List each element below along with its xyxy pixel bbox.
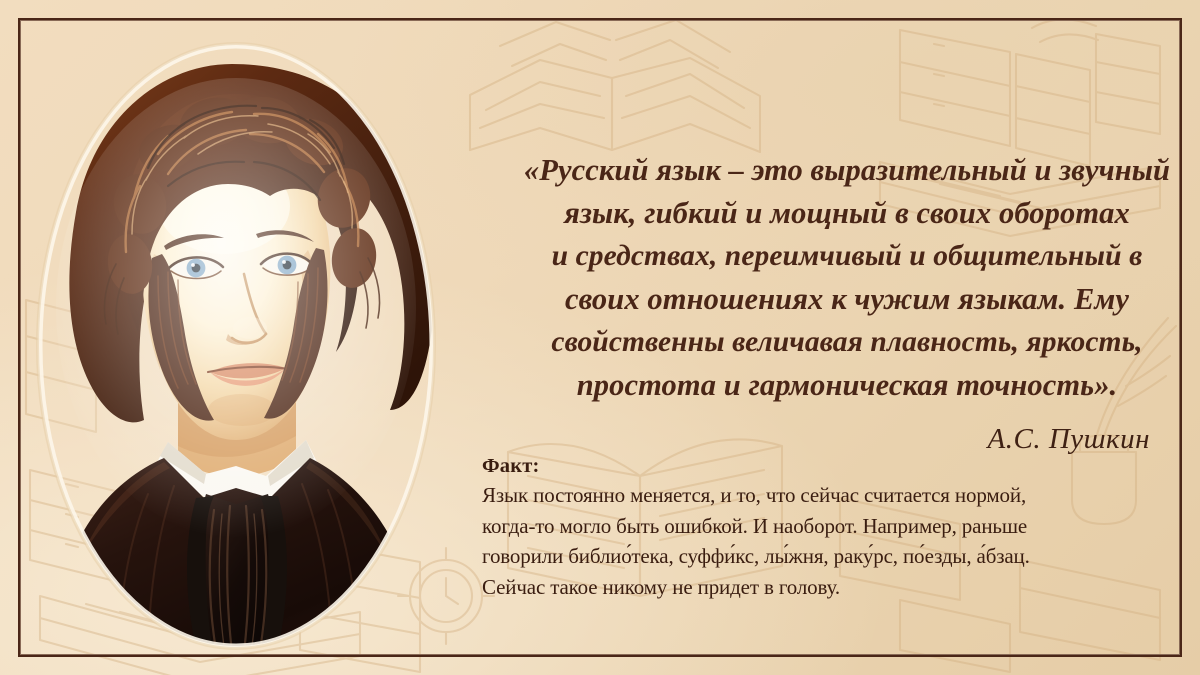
fact-body: Язык постоянно меняется, и то, что сейча… [482,480,1154,602]
poster-canvas: «Русский язык – это выразительный и звуч… [0,0,1200,675]
pushkin-quote: «Русский язык – это выразительный и звуч… [492,149,1200,407]
quote-line: свойственны величавая плавность, яркость… [492,321,1200,364]
fact-line: когда-то могло быть ошибкой. И наоборот.… [482,511,1154,542]
pushkin-portrait [18,28,458,653]
quote-line: «Русский язык – это выразительный и звуч… [492,149,1200,192]
fact-block: Факт: Язык постоянно меняется, и то, что… [482,452,1154,602]
text-column: «Русский язык – это выразительный и звуч… [452,40,1162,640]
fact-label: Факт: [482,452,1154,480]
quote-line: и средствах, переимчивый и общительный в [492,235,1200,278]
fact-line: Язык постоянно меняется, и то, что сейча… [482,480,1154,511]
fact-line: Сейчас такое никому не придет в голову. [482,572,1154,603]
quote-line: язык, гибкий и мощный в своих оборотах [492,192,1200,235]
quote-line: простота и гармоническая точность». [492,364,1200,407]
quote-line: своих отношениях к чужим языкам. Ему [492,278,1200,321]
fact-line: говорили библио́тека, суффи́кс, лы́жня, … [482,541,1154,572]
